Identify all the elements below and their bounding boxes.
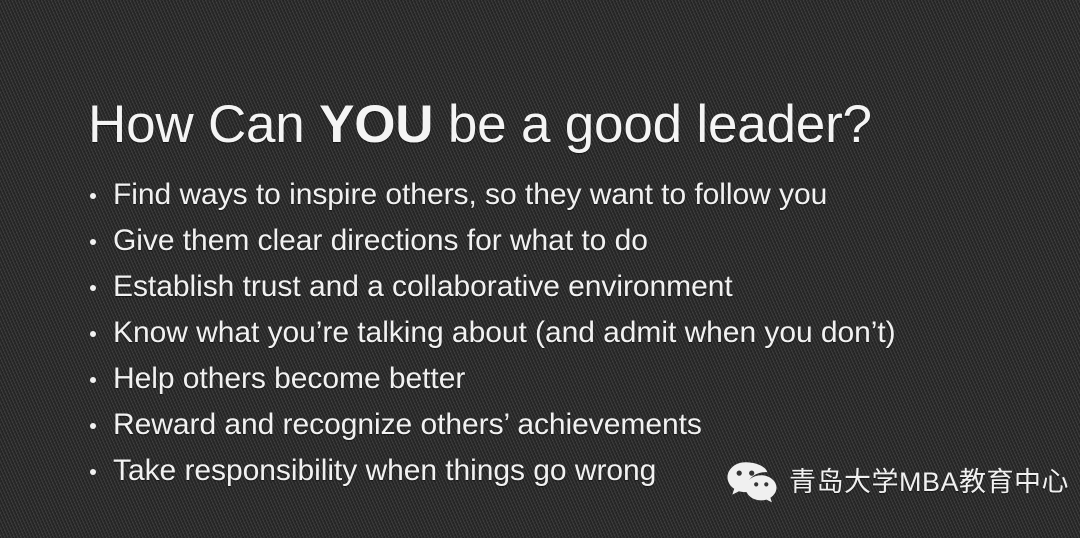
list-item: Give them clear directions for what to d…	[88, 218, 896, 264]
list-item-label: Take responsibility when things go wrong	[113, 454, 656, 487]
presentation-slide: How Can YOU be a good leader? Find ways …	[0, 0, 1080, 538]
bullet-dot-icon	[90, 331, 96, 337]
list-item-label: Know what you’re talking about (and admi…	[113, 316, 896, 349]
list-item: Find ways to inspire others, so they wan…	[88, 172, 896, 218]
title-text-before: How Can	[88, 95, 319, 154]
list-item-label: Establish trust and a collaborative envi…	[113, 270, 733, 303]
bullet-dot-icon	[90, 377, 96, 383]
bullet-dot-icon	[90, 285, 96, 291]
bullet-list: Find ways to inspire others, so they wan…	[88, 172, 896, 494]
wechat-watermark: 青岛大学MBA教育中心	[726, 461, 1069, 503]
bullet-dot-icon	[90, 239, 96, 245]
bullet-dot-icon	[90, 193, 96, 199]
list-item-label: Give them clear directions for what to d…	[113, 224, 648, 257]
list-item: Help others become better	[88, 356, 896, 402]
list-item-label: Find ways to inspire others, so they wan…	[113, 178, 827, 211]
bullet-dot-icon	[90, 423, 96, 429]
title-emphasis-you: YOU	[319, 95, 433, 154]
list-item: Know what you’re talking about (and admi…	[88, 310, 896, 356]
list-item-label: Reward and recognize others’ achievement…	[113, 408, 702, 441]
page-title: How Can YOU be a good leader?	[88, 96, 872, 153]
watermark-label: 青岛大学MBA教育中心	[789, 469, 1069, 496]
title-text-after: be a good leader?	[433, 95, 871, 154]
bullet-dot-icon	[90, 469, 96, 475]
wechat-logo-icon	[726, 461, 778, 503]
list-item: Establish trust and a collaborative envi…	[88, 264, 896, 310]
list-item-label: Help others become better	[113, 362, 465, 395]
list-item: Reward and recognize others’ achievement…	[88, 402, 896, 448]
